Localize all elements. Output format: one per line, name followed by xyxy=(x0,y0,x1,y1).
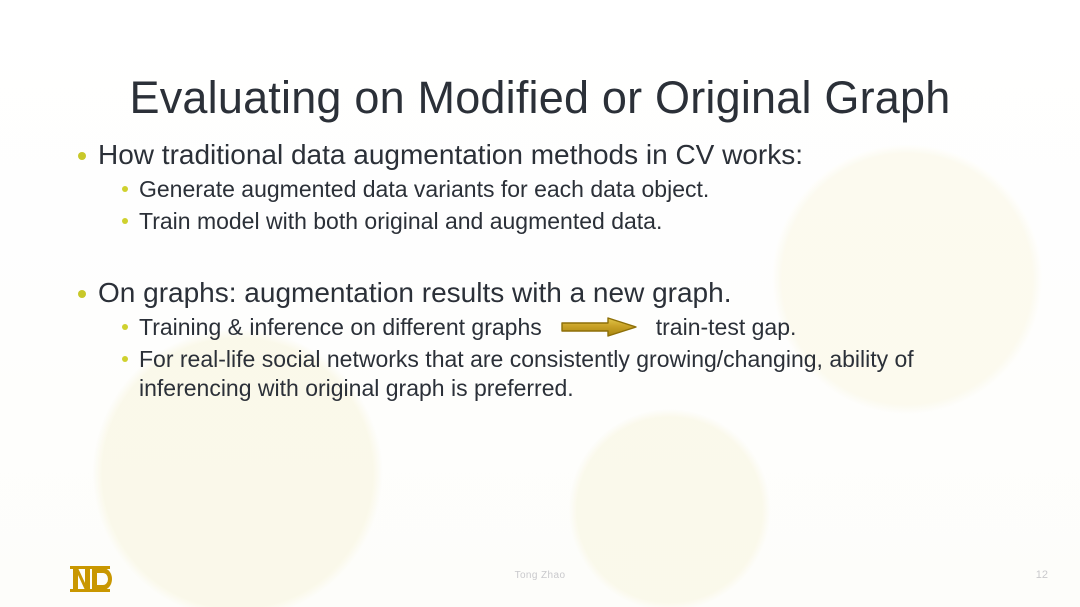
bullet-dot-icon xyxy=(78,290,86,298)
page-title: Evaluating on Modified or Original Graph xyxy=(0,72,1080,124)
bullet-level1-text: How traditional data augmentation method… xyxy=(98,138,803,171)
bullet-dot-icon xyxy=(122,218,128,224)
bullet-dot-icon xyxy=(122,324,128,330)
bullet-level2-with-arrow: Training & inference on different graphs xyxy=(122,313,1020,342)
bullet-level2: For real-life social networks that are c… xyxy=(122,345,1020,403)
arrow-statement-left: Training & inference on different graphs xyxy=(139,313,542,342)
bullet-level2-text: For real-life social networks that are c… xyxy=(139,345,1020,403)
bullet-level2-text: Train model with both original and augme… xyxy=(139,207,662,236)
bullet-level1: On graphs: augmentation results with a n… xyxy=(78,276,1020,309)
bullet-group-1: How traditional data augmentation method… xyxy=(78,138,1020,236)
bullet-level1-text: On graphs: augmentation results with a n… xyxy=(98,276,731,309)
right-arrow-icon xyxy=(560,316,638,338)
slide-body: How traditional data augmentation method… xyxy=(78,138,1020,403)
bullet-level2-text: Generate augmented data variants for eac… xyxy=(139,175,709,204)
arrow-statement: Training & inference on different graphs xyxy=(139,313,796,342)
bullet-level1: How traditional data augmentation method… xyxy=(78,138,1020,171)
bullet-level2: Train model with both original and augme… xyxy=(122,207,1020,236)
page-number: 12 xyxy=(1036,569,1048,581)
bullet-group-2: On graphs: augmentation results with a n… xyxy=(78,276,1020,403)
slide-canvas: Evaluating on Modified or Original Graph… xyxy=(0,0,1080,607)
arrow-statement-right: train-test gap. xyxy=(656,313,797,342)
bullet-dot-icon xyxy=(122,186,128,192)
bullet-dot-icon xyxy=(122,356,128,362)
footer-author: Tong Zhao xyxy=(0,570,1080,581)
bullet-level2: Generate augmented data variants for eac… xyxy=(122,175,1020,204)
bullet-dot-icon xyxy=(78,152,86,160)
